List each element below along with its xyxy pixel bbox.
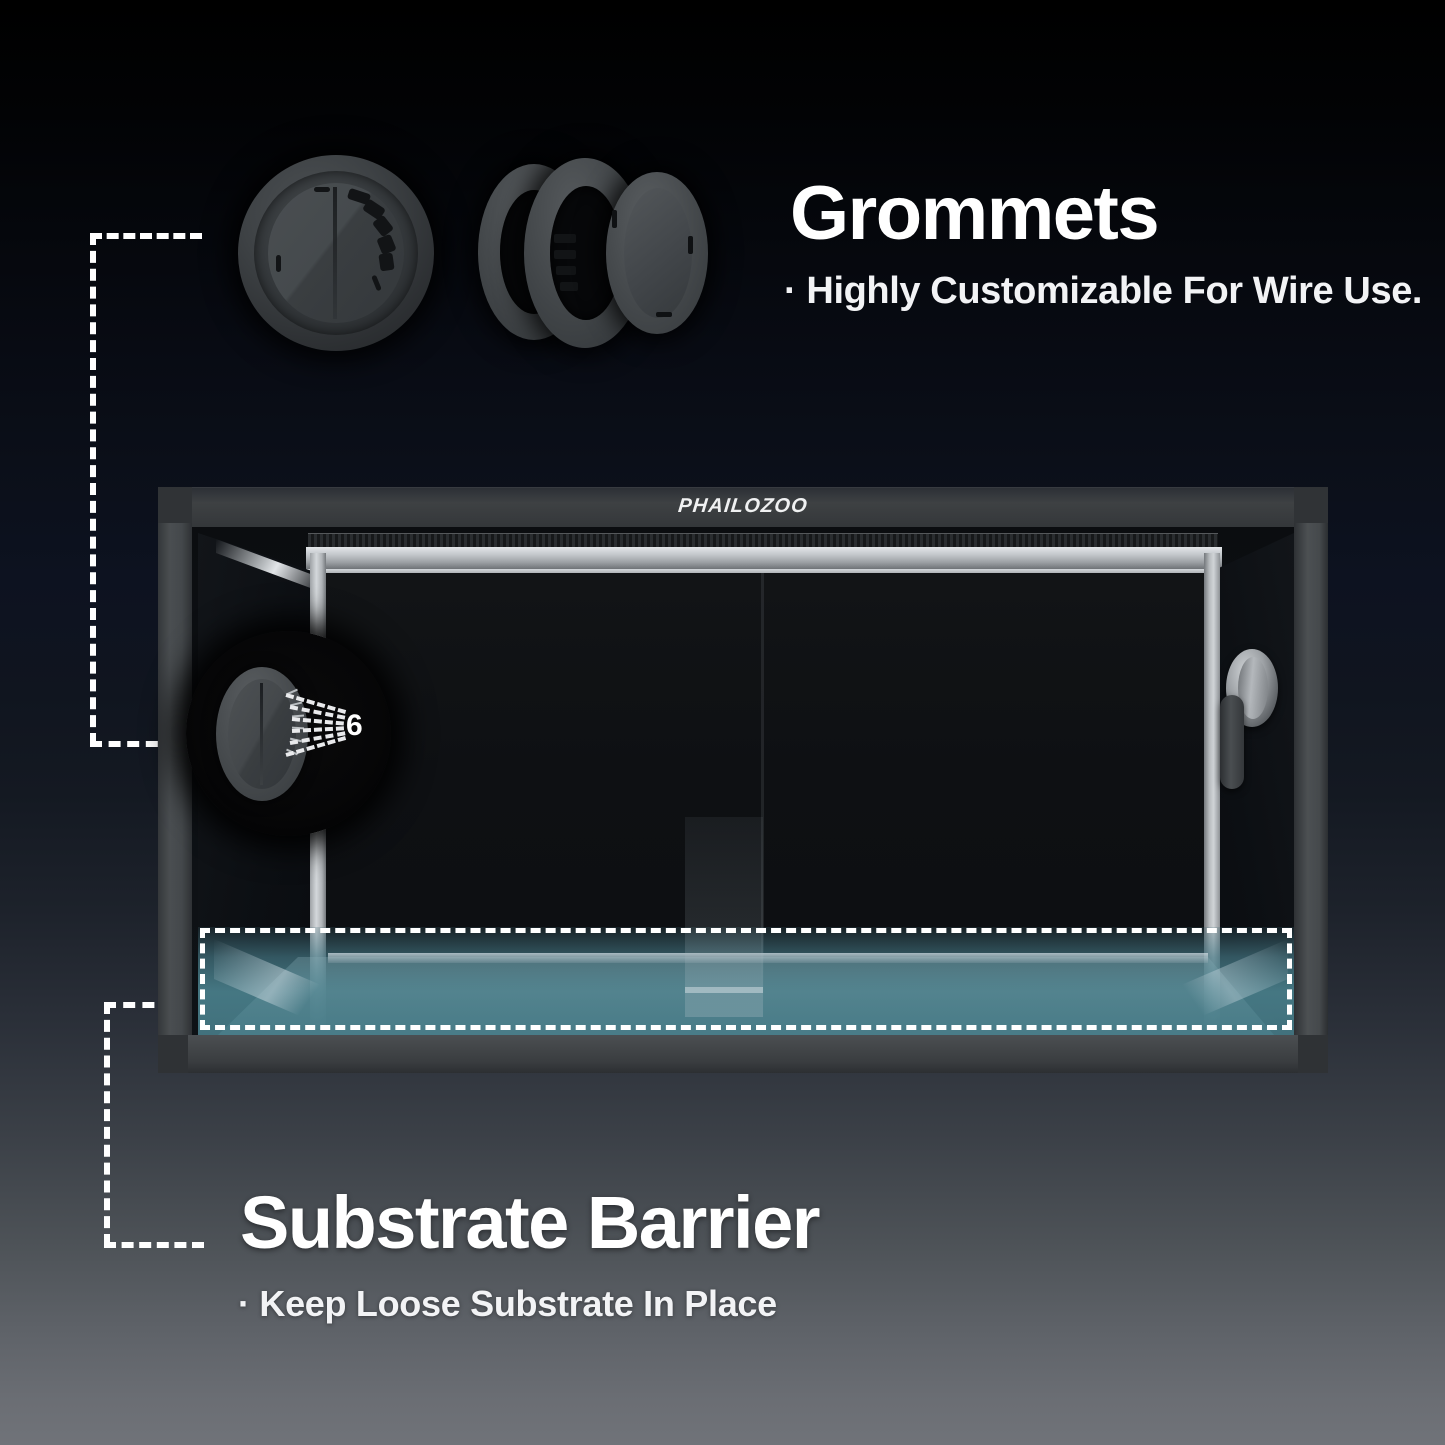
terrarium-left-post (158, 523, 192, 1039)
substrate-bullet: · Keep Loose Substrate In Place (238, 1286, 777, 1322)
grommets-bullet: · Highly Customizable For Wire Use. (784, 272, 1422, 310)
grommets-heading: Grommets (790, 176, 1158, 252)
terrarium-base (158, 1035, 1328, 1073)
top-glass-rail (306, 547, 1222, 569)
substrate-highlight-box-right (1287, 928, 1292, 1030)
grommet-cap-render (238, 155, 434, 351)
substrate-heading: Substrate Barrier (240, 1186, 819, 1260)
substrate-highlight-box (200, 928, 1292, 1030)
grommet-count-label: 6 (346, 709, 363, 743)
brand-logo: PHAILOZOO (672, 495, 815, 519)
product-feature-graphic: PHAILOZOO (0, 0, 1445, 1445)
grommet-rings-render (478, 158, 708, 348)
terrarium-right-post (1294, 523, 1328, 1039)
grommet-detail-magnifier: 6 (186, 631, 391, 836)
door-handle-lever[interactable] (1220, 695, 1244, 789)
